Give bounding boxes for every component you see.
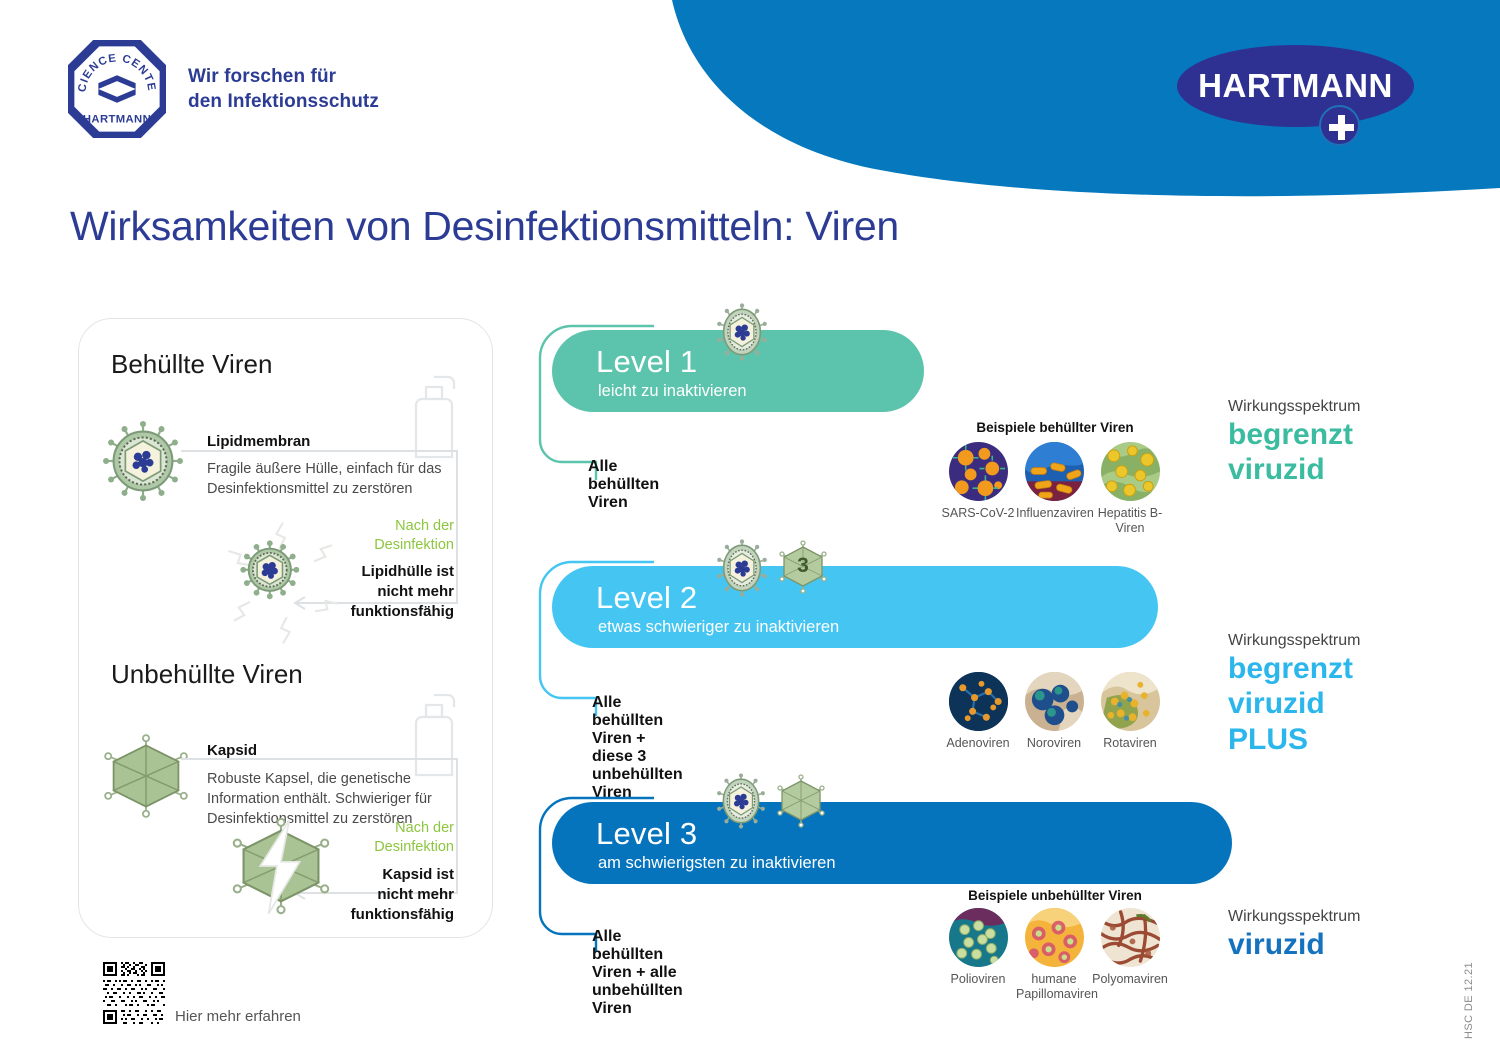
spectrum-value: begrenzt viruzid PLUS: [1228, 651, 1360, 757]
section-title-non-enveloped: Unbehüllte Viren: [111, 659, 303, 690]
hartmann-brand-logo: HARTMANN: [1177, 45, 1414, 127]
virus-micrograph-icon: [1101, 672, 1160, 731]
level-1-examples-title: Beispiele behüllter Viren: [940, 420, 1170, 435]
level-1-spectrum: Wirkungsspektrum begrenzt viruzid: [1228, 398, 1360, 488]
spectrum-title: Wirkungsspektrum: [1228, 908, 1360, 926]
science-center-logo-block: SCIENCE CENTER HARTMANN Wir forschen für…: [68, 40, 379, 138]
example-caption: Hepatitis B-Viren: [1092, 506, 1168, 537]
level-3-subtitle: am schwierigsten zu inaktivieren: [598, 854, 836, 873]
level-2-row-label: Alle behüllten Viren + diese 3 unbehüllt…: [592, 694, 683, 802]
level-2-title: Level 2: [596, 580, 697, 616]
virus-micrograph-icon: [949, 672, 1008, 731]
level-2-spectrum: Wirkungsspektrum begrenzt viruzid PLUS: [1228, 632, 1360, 757]
example-item: SARS-CoV-2: [940, 442, 1016, 521]
plus-icon: [1319, 105, 1360, 146]
spectrum-value: begrenzt viruzid: [1228, 417, 1360, 488]
virus-types-card: Behüllte Viren: [78, 318, 493, 938]
brand-wordmark: HARTMANN: [1177, 67, 1414, 105]
qr-code-icon[interactable]: [103, 962, 165, 1024]
svg-text:HARTMANN: HARTMANN: [83, 113, 151, 125]
after-disinfection-label-non-enveloped: Nach der Desinfektion: [294, 819, 454, 857]
level-1-row-label: Alle behüllten Viren: [588, 458, 659, 512]
example-caption: Influenzaviren: [1016, 506, 1092, 521]
example-item: humane Papillomaviren: [1016, 908, 1092, 1003]
enveloped-virus-icon-badge-l1: [715, 302, 769, 367]
document-code: HSC DE 12.21: [1463, 962, 1475, 1039]
science-center-claim: Wir forschen für den Infektionsschutz: [188, 64, 379, 115]
virus-micrograph-icon: [1025, 672, 1084, 731]
infographic-page: SCIENCE CENTER HARTMANN Wir forschen für…: [0, 0, 1500, 1059]
example-item: Adenoviren: [940, 672, 1016, 751]
level-3-pill[interactable]: Level 3 am schwierigsten zu inaktivieren: [552, 802, 1232, 884]
result-text-non-enveloped: Kapsid ist nicht mehr funktionsfähig: [274, 865, 454, 924]
level-3-row-label: Alle behüllten Viren + alle unbehüllten …: [592, 928, 683, 1018]
section-title-enveloped: Behüllte Viren: [111, 349, 272, 380]
example-caption: Polyomaviren: [1092, 972, 1168, 987]
badge-number: 3: [797, 554, 809, 577]
enveloped-virus-icon: [101, 419, 185, 508]
virus-micrograph-icon: [1025, 908, 1084, 967]
capsid-virus-icon-badge-l2: 3: [778, 540, 828, 599]
example-item: Rotaviren: [1092, 672, 1168, 751]
level-2-subtitle: etwas schwieriger zu inaktivieren: [598, 618, 839, 637]
spectrum-title: Wirkungsspektrum: [1228, 398, 1360, 416]
spectrum-value: viruzid: [1228, 927, 1360, 962]
example-item: Polioviren: [940, 908, 1016, 987]
virus-micrograph-icon: [949, 908, 1008, 967]
capsid-virus-icon-badge-l3: [776, 774, 826, 833]
after-disinfection-label-enveloped: Nach der Desinfektion: [294, 517, 454, 555]
level-1-title: Level 1: [596, 344, 697, 380]
example-caption: SARS-CoV-2: [940, 506, 1016, 521]
level-3-examples: Polioviren: [940, 908, 1168, 1003]
level-3-title: Level 3: [596, 816, 697, 852]
level-2-examples: Adenoviren: [940, 672, 1168, 751]
example-caption: Rotaviren: [1092, 736, 1168, 751]
claim-line-2: den Infektionsschutz: [188, 89, 379, 114]
enveloped-virus-icon-badge-l3: [715, 772, 767, 835]
result-text-enveloped: Lipidhülle ist nicht mehr funktionsfähig: [274, 562, 454, 621]
virus-micrograph-icon: [1101, 908, 1160, 967]
example-item: Hepatitis B-Viren: [1092, 442, 1168, 537]
level-1-examples: SARS-CoV-2: [940, 442, 1168, 537]
page-title: Wirksamkeiten von Desinfektionsmitteln: …: [70, 203, 899, 250]
level-2-pill[interactable]: Level 2 etwas schwieriger zu inaktiviere…: [552, 566, 1158, 648]
capsid-virus-icon: [101, 731, 191, 826]
example-item: Influenzaviren: [1016, 442, 1092, 521]
enveloped-virus-icon-badge-l2: [715, 538, 769, 603]
virus-micrograph-icon: [1025, 442, 1084, 501]
example-caption: humane Papillomaviren: [1016, 972, 1092, 1003]
virus-micrograph-icon: [1101, 442, 1160, 501]
qr-caption: Hier mehr erfahren: [175, 1008, 301, 1025]
level-1-subtitle: leicht zu inaktivieren: [598, 382, 747, 401]
example-item: Polyomaviren: [1092, 908, 1168, 987]
example-caption: Noroviren: [1016, 736, 1092, 751]
claim-line-1: Wir forschen für: [188, 64, 379, 89]
level-3-examples-title: Beispiele unbehüllter Viren: [940, 888, 1170, 903]
spectrum-title: Wirkungsspektrum: [1228, 632, 1360, 650]
virus-micrograph-icon: [949, 442, 1008, 501]
example-caption: Adenoviren: [940, 736, 1016, 751]
example-item: Noroviren: [1016, 672, 1092, 751]
example-caption: Polioviren: [940, 972, 1016, 987]
level-3-spectrum: Wirkungsspektrum viruzid: [1228, 908, 1360, 962]
science-center-seal-icon: SCIENCE CENTER HARTMANN: [68, 40, 166, 138]
